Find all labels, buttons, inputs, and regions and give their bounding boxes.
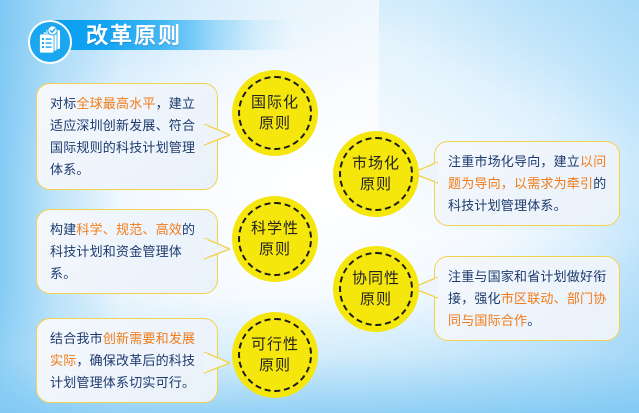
page-title: 改革原则	[86, 23, 182, 49]
principle-text-2-content: 注重市场化导向，建立以问题为导向，以需求为牵引的科技计划管理体系。	[448, 151, 607, 217]
principle-circle-3-line1: 科学性	[251, 218, 299, 239]
principle-circle-4: 协同性 原则	[333, 246, 419, 332]
principle-text-2: 注重市场化导向，建立以问题为导向，以需求为牵引的科技计划管理体系。	[434, 141, 620, 226]
principle-circle-2-line1: 市场化	[352, 153, 400, 174]
principle-circle-1-line2: 原则	[251, 113, 299, 134]
document-checklist-glyph	[30, 22, 69, 61]
principle-circle-2: 市场化 原则	[333, 131, 419, 217]
body-text: 对标	[50, 96, 76, 111]
principle-circle-1-line1: 国际化	[251, 92, 299, 113]
principle-circle-4-line2: 原则	[352, 289, 400, 310]
bubble-tail-3	[204, 238, 230, 260]
principle-circle-5-line2: 原则	[251, 355, 299, 376]
body-text: 构建	[50, 222, 76, 237]
principle-text-4: 注重与国家和省计划做好衔接，强化市区联动、部门协同与国际合作。	[434, 256, 620, 341]
highlighted-text: 全球最高水平	[76, 96, 155, 111]
principle-text-3: 构建科学、规范、高效的科技计划和资金管理体系。	[36, 209, 218, 294]
document-checklist-icon	[28, 20, 72, 64]
bubble-tail-1	[204, 124, 230, 146]
principle-circle-1: 国际化 原则	[232, 70, 318, 156]
highlighted-text: 科学、规范、高效	[76, 222, 182, 237]
principle-text-5-content: 结合我市创新需要和发展实际，确保改革后的科技计划管理体系切实可行。	[50, 328, 205, 394]
body-text: 注重市场化导向，建立	[448, 154, 580, 169]
body-text: 。	[527, 313, 540, 328]
principle-circle-4-line1: 协同性	[352, 268, 400, 289]
principle-circle-2-line2: 原则	[352, 174, 400, 195]
principle-circle-3: 科学性 原则	[232, 196, 318, 282]
slide-canvas: 改革原则 对标全球最高水平，建立适应深圳创新发展、符合国际规则的科技计划管理体系…	[0, 0, 639, 413]
principle-text-1-content: 对标全球最高水平，建立适应深圳创新发展、符合国际规则的科技计划管理体系。	[50, 93, 205, 181]
principle-text-1: 对标全球最高水平，建立适应深圳创新发展、符合国际规则的科技计划管理体系。	[36, 83, 218, 190]
body-text: 结合我市	[50, 331, 103, 346]
principle-text-4-content: 注重与国家和省计划做好衔接，强化市区联动、部门协同与国际合作。	[448, 266, 607, 332]
principle-circle-5-line1: 可行性	[251, 334, 299, 355]
principle-circle-3-line2: 原则	[251, 239, 299, 260]
principle-circle-5: 可行性 原则	[232, 312, 318, 398]
header: 改革原则	[14, 12, 314, 58]
principle-text-3-content: 构建科学、规范、高效的科技计划和资金管理体系。	[50, 219, 205, 285]
principle-text-5: 结合我市创新需要和发展实际，确保改革后的科技计划管理体系切实可行。	[36, 318, 218, 403]
bubble-tail-5	[204, 352, 230, 374]
